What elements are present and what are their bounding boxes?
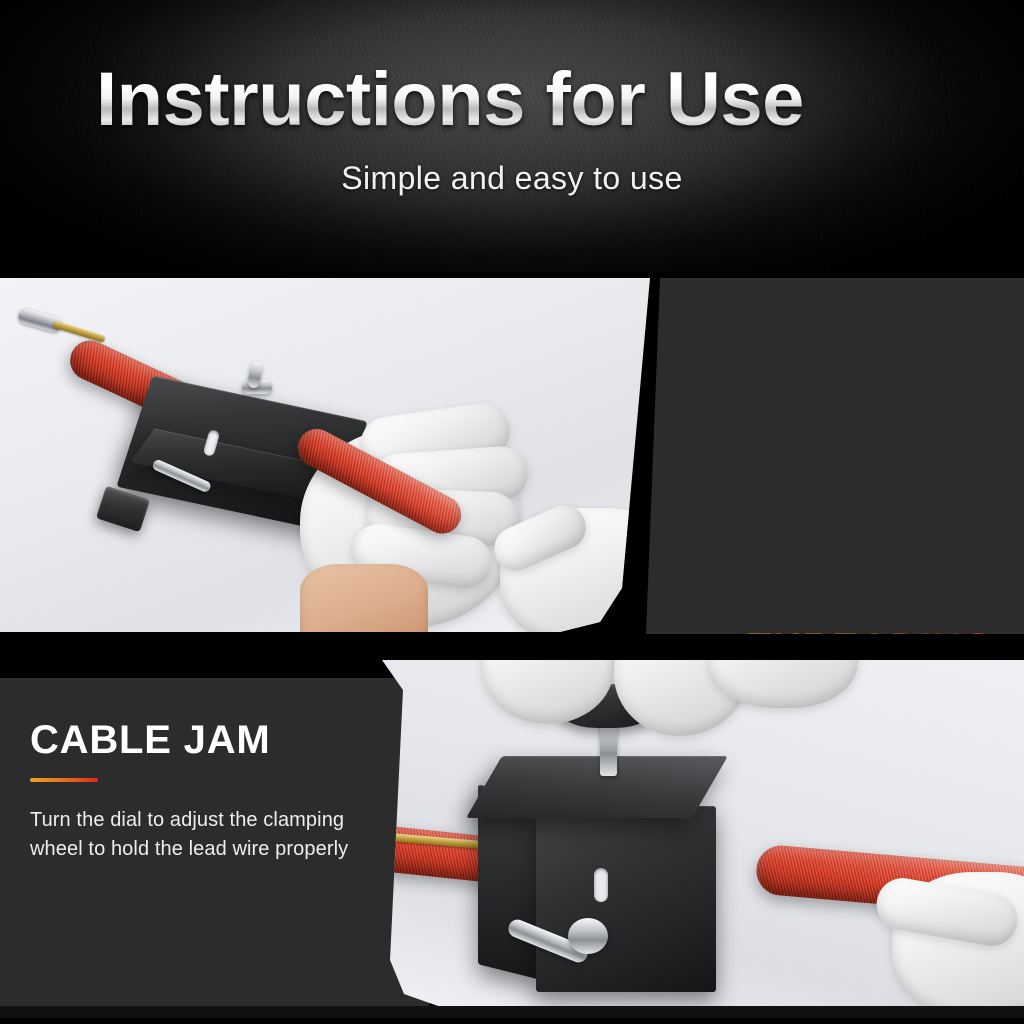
threading-photo [0, 278, 656, 632]
header-banner: Instructions for Use Simple and easy to … [0, 0, 1024, 272]
footer-strip-bottom [0, 1018, 1024, 1024]
page-subtitle: Simple and easy to use [0, 160, 1024, 197]
cable-jam-photo [378, 660, 1024, 1006]
page-title: Instructions for Use [96, 62, 804, 138]
clamp-keyhole-icon [594, 868, 608, 902]
section-threading: THREADING Thread the lead wire into the … [0, 272, 1024, 634]
wrist-skin [300, 564, 428, 632]
cable-jam-title: CABLE JAM [30, 720, 271, 760]
clamp-tool-top-face [466, 756, 728, 818]
clamp-rod-collar [568, 918, 608, 954]
tool-dial-handle [96, 486, 150, 533]
section-cable-jam: CABLE JAM Turn the dial to adjust the cl… [0, 634, 1024, 1024]
cable-jam-underline [30, 778, 98, 782]
lead-wire-upper [52, 320, 106, 342]
instruction-infographic: Instructions for Use Simple and easy to … [0, 0, 1024, 1024]
clamp-tool-front-face [536, 806, 716, 992]
cable-jam-body-text: Turn the dial to adjust the clamping whe… [30, 806, 370, 864]
threading-text-panel [646, 278, 1024, 634]
